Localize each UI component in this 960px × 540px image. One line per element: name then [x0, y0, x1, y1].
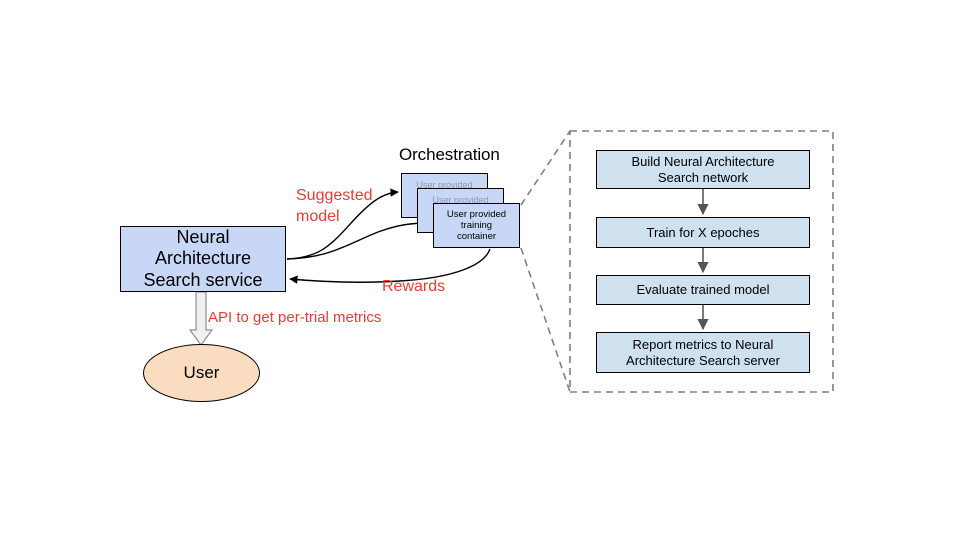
annotation-suggested-model: Suggested model	[296, 186, 373, 228]
flow-step-report-metrics[interactable]: Report metrics to Neural Architecture Se…	[596, 332, 810, 373]
user-ellipse[interactable]: User	[143, 344, 260, 402]
annotation-api-metrics: API to get per-trial metrics	[208, 308, 381, 328]
arrow-suggested-model-lower	[287, 223, 429, 259]
flow-step-build-network[interactable]: Build Neural Architecture Search network	[596, 150, 810, 189]
flow-step-train-epochs[interactable]: Train for X epoches	[596, 217, 810, 248]
user-provided-training-container-front[interactable]: User provided training container	[433, 203, 520, 248]
diagram-canvas: Neural Architecture Search service Orche…	[0, 0, 960, 540]
orchestration-title: Orchestration	[399, 145, 500, 165]
neural-architecture-search-service-box[interactable]: Neural Architecture Search service	[120, 226, 286, 292]
flow-step-evaluate-model[interactable]: Evaluate trained model	[596, 275, 810, 305]
annotation-rewards: Rewards	[382, 277, 445, 298]
